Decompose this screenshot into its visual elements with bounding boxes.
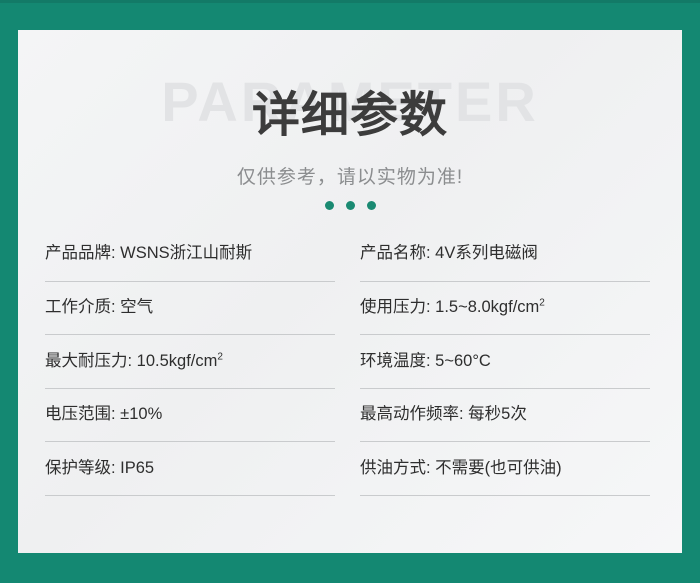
parameter-text: 保护等级: IP65 — [45, 459, 154, 479]
separator-dot — [346, 201, 355, 210]
page-subtitle: 仅供参考，请以实物为准! — [18, 162, 682, 189]
top-accent-strip — [0, 0, 700, 3]
dot-separator — [18, 201, 682, 210]
card-header: PARAMETER 详细参数 仅供参考，请以实物为准! — [18, 30, 682, 228]
parameter-row: 电压范围: ±10% — [45, 389, 335, 443]
parameter-row: 最高动作频率: 每秒5次 — [360, 389, 650, 443]
page-title: 详细参数 — [18, 92, 682, 140]
page-root: PARAMETER 详细参数 仅供参考，请以实物为准! 产品品牌: WSNS浙江… — [0, 0, 700, 583]
parameter-text: 产品名称: 4V系列电磁阀 — [360, 244, 538, 264]
parameter-row: 使用压力: 1.5~8.0kgf/cm2 — [360, 282, 650, 336]
unit-superscript: 2 — [217, 351, 223, 362]
parameter-row: 环境温度: 5~60°C — [360, 335, 650, 389]
parameter-row: 工作介质: 空气 — [45, 282, 335, 336]
parameter-row: 产品名称: 4V系列电磁阀 — [360, 228, 650, 282]
unit-superscript: 2 — [539, 297, 545, 308]
parameter-card: PARAMETER 详细参数 仅供参考，请以实物为准! 产品品牌: WSNS浙江… — [18, 30, 682, 553]
parameter-text: 工作介质: 空气 — [45, 298, 153, 318]
parameter-text: 供油方式: 不需要(也可供油) — [360, 459, 562, 479]
parameter-text: 环境温度: 5~60°C — [360, 352, 491, 372]
parameter-text: 最大耐压力: 10.5kgf/cm2 — [45, 352, 223, 372]
separator-dot — [325, 201, 334, 210]
parameter-row: 最大耐压力: 10.5kgf/cm2 — [45, 335, 335, 389]
parameter-column-left: 产品品牌: WSNS浙江山耐斯工作介质: 空气最大耐压力: 10.5kgf/cm… — [18, 228, 350, 496]
parameter-text: 使用压力: 1.5~8.0kgf/cm2 — [360, 298, 545, 318]
parameter-column-right: 产品名称: 4V系列电磁阀使用压力: 1.5~8.0kgf/cm2环境温度: 5… — [350, 228, 682, 496]
parameter-row: 产品品牌: WSNS浙江山耐斯 — [45, 228, 335, 282]
parameter-text: 电压范围: ±10% — [45, 405, 162, 425]
parameter-row: 供油方式: 不需要(也可供油) — [360, 442, 650, 496]
parameter-text: 最高动作频率: 每秒5次 — [360, 405, 527, 425]
parameter-row: 保护等级: IP65 — [45, 442, 335, 496]
separator-dot — [367, 201, 376, 210]
parameter-table: 产品品牌: WSNS浙江山耐斯工作介质: 空气最大耐压力: 10.5kgf/cm… — [18, 228, 682, 496]
parameter-text: 产品品牌: WSNS浙江山耐斯 — [45, 244, 252, 264]
